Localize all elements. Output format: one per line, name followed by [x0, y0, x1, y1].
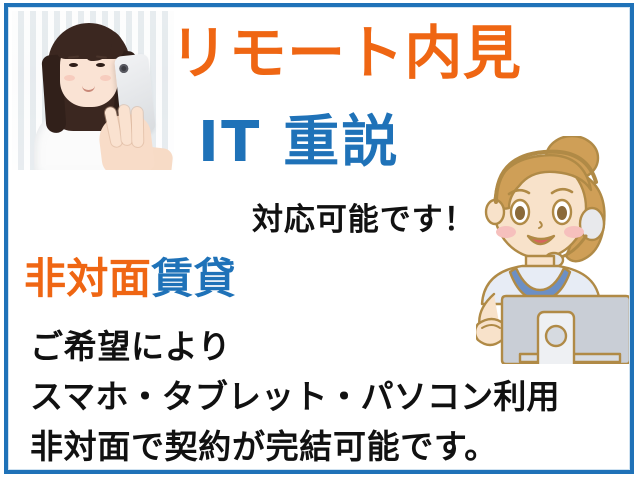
cheek-right	[564, 226, 584, 238]
promo-poster: リモート内見 IT 重説 対応可能です！ 非対面賃貸 ご希望により スマホ・タブ…	[0, 0, 640, 480]
headline-remote-viewing: リモート内見	[170, 24, 521, 82]
operator-illustration	[476, 136, 632, 364]
body-line-2: スマホ・タブレット・パソコン利用	[30, 380, 560, 413]
photo-eye-left	[69, 63, 78, 67]
headline-supported-note: 対応可能です！	[252, 205, 476, 236]
photo-bangs	[56, 29, 124, 59]
headset-earpiece-icon	[580, 208, 604, 240]
operator-svg	[476, 136, 632, 364]
pupil-right	[557, 206, 567, 220]
subhead-blue-part: 賃貸	[151, 254, 236, 303]
phone-camera-icon	[119, 64, 129, 74]
subhead-contactless-rental: 非対面賃貸	[24, 258, 236, 300]
photo-cheek-left	[64, 75, 75, 81]
headline-it-juusetsu: IT 重説	[198, 115, 400, 171]
pupil-left	[515, 206, 525, 220]
photo-cheek-right	[100, 75, 111, 81]
cheek-left	[496, 226, 516, 238]
device-button-icon	[546, 326, 566, 346]
subhead-orange-part: 非対面	[24, 254, 151, 303]
photo-finger	[132, 107, 144, 147]
body-line-3: 非対面で契約が完結可能です。	[30, 430, 498, 463]
photo-eye-right	[96, 63, 105, 67]
body-line-1: ご希望により	[30, 330, 231, 363]
woman-smartphone-photo	[12, 11, 174, 170]
